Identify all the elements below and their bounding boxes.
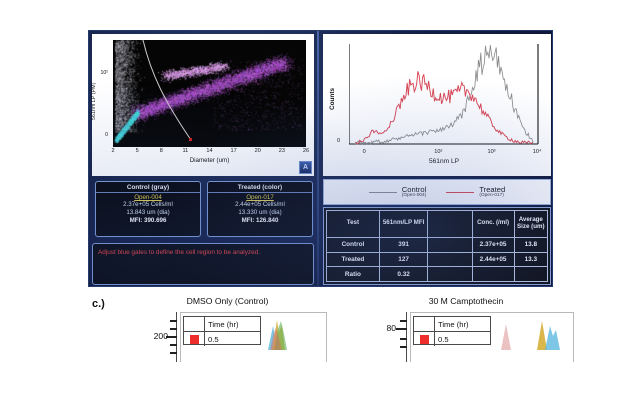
table-cell	[514, 267, 547, 282]
legend-swatch-cell	[184, 332, 205, 346]
results-table: Test 561nm/LP MFI Conc. (/ml) Average Si…	[326, 210, 548, 282]
scatter-y-axis-label: 561nm LP (PM)	[91, 46, 105, 156]
scatter-x-tick: 11	[182, 148, 188, 154]
histogram-x-axis: 0 10² 10³ 10⁴	[349, 148, 539, 158]
histogram-traces	[349, 44, 539, 147]
panel-a-badge: A	[299, 161, 312, 174]
scatter-x-tick: 17	[231, 148, 237, 154]
panel-c-left: DMSO Only (Control) 200 Time (hr) 0.5	[120, 290, 335, 400]
table-header-blank	[428, 211, 472, 238]
table-cell: 127	[379, 252, 428, 267]
panel-c-right-legend-header: Time (hr)	[435, 320, 469, 329]
table-header-size: Average Size (um)	[514, 211, 547, 238]
legend-control-sample: (Open-004)	[402, 193, 427, 198]
treated-info-title: Treated (color)	[208, 182, 312, 193]
color-swatch-icon	[190, 335, 199, 344]
control-info-box[interactable]: Control (gray) Open-004 2.37e+05 Cells/m…	[95, 181, 201, 237]
table-header-row: Test 561nm/LP MFI Conc. (/ml) Average Si…	[327, 211, 548, 238]
scatter-x-tick: 14	[206, 148, 212, 154]
legend-item-control: Control (Open-004)	[369, 186, 427, 199]
legend-value-row: 0.5	[184, 332, 260, 346]
control-diameter: 13.843 um (dia)	[96, 209, 200, 217]
histogram-x-tick: 10²	[434, 149, 442, 155]
panel-c-right: 30 M Camptothecin 80 Time (hr) 0.5	[350, 290, 582, 400]
table-row: Ratio 0.32	[327, 267, 548, 282]
legend-value-row: 0.5	[414, 332, 490, 346]
panel-c-right-y-tick: 80	[346, 323, 396, 333]
panel-c-right-legend-value: 0.5	[435, 335, 449, 344]
legend-treated-sample: (Open-017)	[479, 193, 505, 198]
panel-c-left-title: DMSO Only (Control)	[120, 296, 335, 306]
table-cell: 13.8	[514, 237, 547, 252]
instruction-note-text: Adjust blue gates to define the cell reg…	[98, 248, 308, 257]
table-cell: 2.44e+05	[472, 252, 514, 267]
table-cell	[472, 267, 514, 282]
legend-line-treated-icon	[446, 192, 474, 193]
scatter-y-tick-1: 10²	[94, 70, 108, 76]
treated-diameter: 13.330 um (dia)	[208, 209, 312, 217]
scatter-x-tick: 5	[136, 148, 139, 154]
legend-swatch-cell	[414, 332, 435, 346]
histogram-panel: Counts 0 0 10² 10³ 10⁴ 561nm LP	[323, 34, 551, 176]
scatter-y-tick-0: 0	[94, 132, 108, 138]
table-header-conc: Conc. (/ml)	[472, 211, 514, 238]
scatter-x-axis-label: Diameter (um)	[113, 157, 306, 164]
legend-swatch-cell-empty	[184, 317, 205, 331]
software-window: 561nm LP (PM) 10² 0 2 5 8 11 14 17 20 23…	[88, 30, 553, 287]
table-cell	[428, 252, 472, 267]
table-cell: 13.3	[514, 252, 547, 267]
control-mfi: MFI: 390.696	[96, 217, 200, 227]
histogram-x-axis-label: 561nm LP	[349, 158, 539, 165]
table-cell: Ratio	[327, 267, 380, 282]
treated-mfi: MFI: 126.840	[208, 217, 312, 227]
panel-divider	[317, 31, 319, 286]
histogram-x-tick: 10³	[487, 149, 495, 155]
table-row: Control 391 2.37e+05 13.8	[327, 237, 548, 252]
histogram-legend: Control (Open-004) Treated (Open-017)	[323, 179, 551, 205]
panel-c-left-legend-value: 0.5	[205, 335, 219, 344]
scatter-x-tick: 20	[255, 148, 261, 154]
scatter-x-tick: 2	[111, 148, 114, 154]
table-cell: Treated	[327, 252, 380, 267]
table-cell	[428, 267, 472, 282]
histogram-x-tick: 0	[363, 149, 366, 155]
table-cell: 2.37e+05	[472, 237, 514, 252]
treated-info-box[interactable]: Treated (color) Open-017 2.44e+05 Cells/…	[207, 181, 313, 237]
panel-c-left-density-peaks	[260, 316, 304, 350]
scatter-x-tick: 23	[279, 148, 285, 154]
histogram-canvas[interactable]	[349, 44, 539, 147]
panel-c-right-time-legend[interactable]: Time (hr) 0.5	[413, 316, 491, 345]
control-sample-id: Open-004	[96, 193, 200, 201]
panel-c-left-legend-header: Time (hr)	[205, 320, 239, 329]
histogram-x-tick: 10⁴	[533, 149, 542, 155]
legend-item-treated: Treated (Open-017)	[446, 186, 505, 199]
treated-sample-id: Open-017	[208, 193, 312, 201]
scatter-x-tick: 8	[160, 148, 163, 154]
control-info-title: Control (gray)	[96, 182, 200, 193]
treated-concentration: 2.44e+05 Cells/ml	[208, 201, 312, 209]
panel-c-left-y-tick: 200	[112, 331, 168, 341]
scatter-points	[113, 40, 306, 147]
histogram-y-zero: 0	[337, 138, 340, 144]
panel-c: c.) DMSO Only (Control) 200 Time (hr) 0.…	[0, 290, 640, 400]
panel-c-right-title: 30 M Camptothecin	[350, 296, 582, 306]
scatter-canvas[interactable]	[113, 40, 306, 147]
panel-c-right-major-tick	[396, 328, 407, 330]
scatter-plot-panel: 561nm LP (PM) 10² 0 2 5 8 11 14 17 20 23…	[92, 34, 314, 176]
table-header-test: Test	[327, 211, 380, 238]
table-row: Treated 127 2.44e+05 13.3	[327, 252, 548, 267]
legend-line-control-icon	[369, 192, 397, 193]
panel-c-label: c.)	[92, 298, 105, 310]
legend-header-row: Time (hr)	[414, 317, 490, 332]
table-header-mfi: 561nm/LP MFI	[379, 211, 428, 238]
panel-c-left-time-legend[interactable]: Time (hr) 0.5	[183, 316, 261, 345]
table-cell: 0.32	[379, 267, 428, 282]
results-table-box: Test 561nm/LP MFI Conc. (/ml) Average Si…	[323, 207, 551, 285]
control-concentration: 2.37e+05 Cells/ml	[96, 201, 200, 209]
table-cell	[428, 237, 472, 252]
legend-header-row: Time (hr)	[184, 317, 260, 332]
color-swatch-icon	[420, 335, 429, 344]
scatter-x-tick: 26	[303, 148, 309, 154]
table-cell: 391	[379, 237, 428, 252]
figure-root: 561nm LP (PM) 10² 0 2 5 8 11 14 17 20 23…	[0, 0, 640, 400]
instruction-note-box: Adjust blue gates to define the cell reg…	[92, 243, 314, 285]
panel-c-right-density-peaks	[495, 316, 590, 350]
legend-swatch-cell-empty	[414, 317, 435, 331]
histogram-y-axis-label: Counts	[329, 64, 341, 134]
table-cell: Control	[327, 237, 380, 252]
